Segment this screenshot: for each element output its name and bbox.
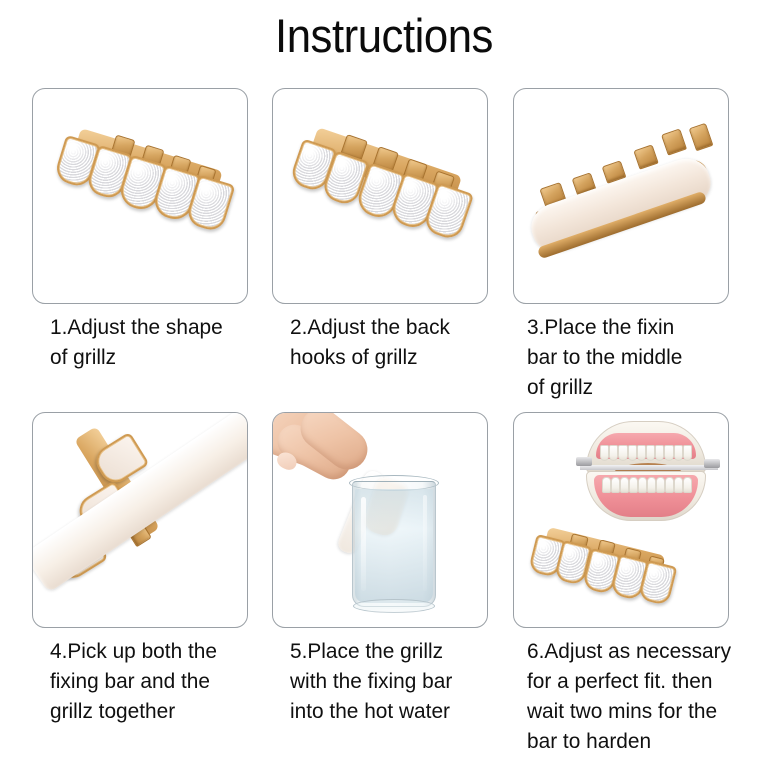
step-caption-5: 5.Place the grillz with the fixing bar i… <box>290 636 509 726</box>
step-caption-4: 4.Pick up both the fixing bar and the gr… <box>50 636 269 726</box>
step-image-3 <box>513 88 729 304</box>
step-caption-3: 3.Place the fixin bar to the middle of g… <box>527 312 752 402</box>
step-image-2 <box>272 88 488 304</box>
step-caption-1: 1.Adjust the shape of grillz <box>50 312 269 372</box>
step-caption-2: 2.Adjust the back hooks of grillz <box>290 312 509 372</box>
step-caption-6: 6.Adjust as necessary for a perfect fit.… <box>527 636 752 756</box>
step-image-4 <box>32 412 248 628</box>
step-image-5 <box>272 412 488 628</box>
step-image-6 <box>513 412 729 628</box>
step-image-1 <box>32 88 248 304</box>
instructions-page: Instructions 1.Adjust the shape of grill… <box>0 0 768 768</box>
page-title: Instructions <box>27 8 741 63</box>
